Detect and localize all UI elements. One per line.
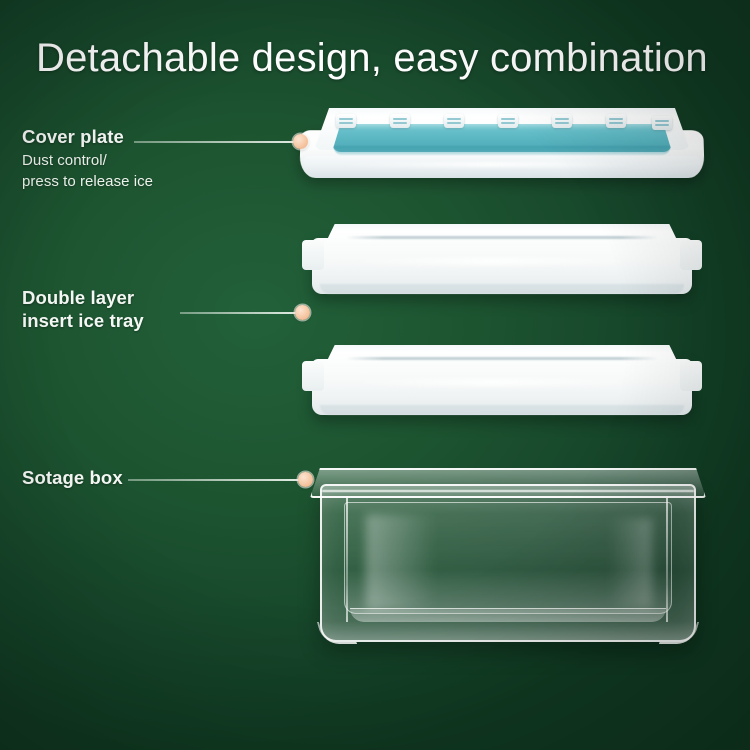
product-ice-tray-upper xyxy=(302,222,702,294)
callout-cover-plate-subtitle-line2: press to release ice xyxy=(22,172,153,193)
cover-plate-skirt xyxy=(304,156,700,178)
ice-tray-groove xyxy=(346,357,658,360)
press-button-bump xyxy=(390,114,410,128)
callout-cover-plate-subtitle-line1: Dust control/ xyxy=(22,151,153,172)
ice-tray-lip xyxy=(324,345,680,367)
leader-dot-cover-plate xyxy=(293,134,308,149)
press-button-bump xyxy=(336,114,356,128)
storage-box-specular-highlight xyxy=(608,518,652,608)
ice-tray-tab-left xyxy=(302,361,324,391)
storage-box-rim xyxy=(310,468,706,498)
callout-ice-tray: Double layer insert ice tray xyxy=(22,286,144,332)
callout-cover-plate-title: Cover plate xyxy=(22,126,153,148)
storage-box-edge-right xyxy=(666,496,668,622)
ice-tray-tab-right xyxy=(680,361,702,391)
page-title: Detachable design, easy combination xyxy=(36,36,736,81)
callout-storage-box: Sotage box xyxy=(22,467,123,489)
storage-box-corner-left xyxy=(317,622,357,644)
leader-line-storage-box xyxy=(128,479,300,481)
ice-tray-base xyxy=(320,284,684,294)
cover-plate-silicone-lip xyxy=(334,146,670,155)
callout-ice-tray-title-line1: Double layer xyxy=(22,286,144,309)
press-button-bump xyxy=(552,114,572,128)
ice-tray-lip xyxy=(324,224,680,246)
ice-tray-highlight xyxy=(342,258,642,265)
leader-dot-ice-tray xyxy=(295,305,310,320)
ice-tray-tab-right xyxy=(680,240,702,270)
ice-tray-tab-left xyxy=(302,240,324,270)
storage-box-inner-floor xyxy=(350,608,666,622)
storage-box-corner-right xyxy=(659,622,699,644)
product-infographic: Detachable design, easy combination xyxy=(0,0,750,750)
leader-line-cover-plate xyxy=(134,141,300,143)
product-storage-box xyxy=(306,462,710,644)
storage-box-rim-groove xyxy=(322,490,694,492)
callout-ice-tray-title-line2: insert ice tray xyxy=(22,309,144,332)
storage-box-specular-highlight xyxy=(366,514,436,610)
storage-box-edge-left xyxy=(346,496,348,622)
product-ice-tray-lower xyxy=(302,343,702,415)
press-button-bump xyxy=(444,114,464,128)
product-cover-plate xyxy=(300,100,704,184)
press-button-bump xyxy=(652,116,672,130)
callout-cover-plate: Cover plate Dust control/ press to relea… xyxy=(22,126,153,192)
ice-tray-highlight xyxy=(342,379,642,386)
cover-plate-highlight xyxy=(340,162,640,167)
ice-tray-base xyxy=(320,405,684,415)
ice-tray-groove xyxy=(346,236,658,239)
press-button-bump xyxy=(498,114,518,128)
leader-line-ice-tray xyxy=(180,312,300,314)
callout-storage-box-title: Sotage box xyxy=(22,467,123,489)
press-button-bump xyxy=(606,114,626,128)
leader-dot-storage-box xyxy=(298,472,313,487)
